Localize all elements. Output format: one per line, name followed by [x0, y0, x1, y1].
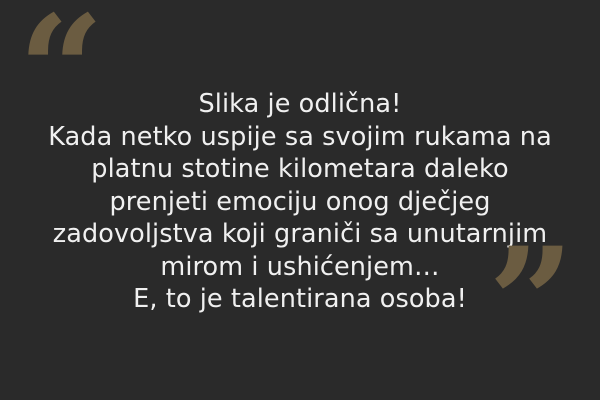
quote-line: mirom i ushićenjem…: [160, 251, 439, 284]
quote-text-block: Slika je odlična! Kada netko uspije sa s…: [0, 0, 600, 400]
quote-line: zadovoljstva koji graniči sa unutarnjim: [53, 218, 548, 251]
quote-line: prenjeti emociju onog dječjeg: [109, 186, 490, 219]
quote-line: Slika je odlična!: [199, 88, 402, 121]
quote-line: platnu stotine kilometara daleko: [91, 153, 508, 186]
quote-line: Kada netko uspije sa svojim rukama na: [48, 121, 552, 154]
quote-card: “ Slika je odlična! Kada netko uspije sa…: [0, 0, 600, 400]
quote-line: E, to je talentirana osoba!: [133, 283, 467, 316]
